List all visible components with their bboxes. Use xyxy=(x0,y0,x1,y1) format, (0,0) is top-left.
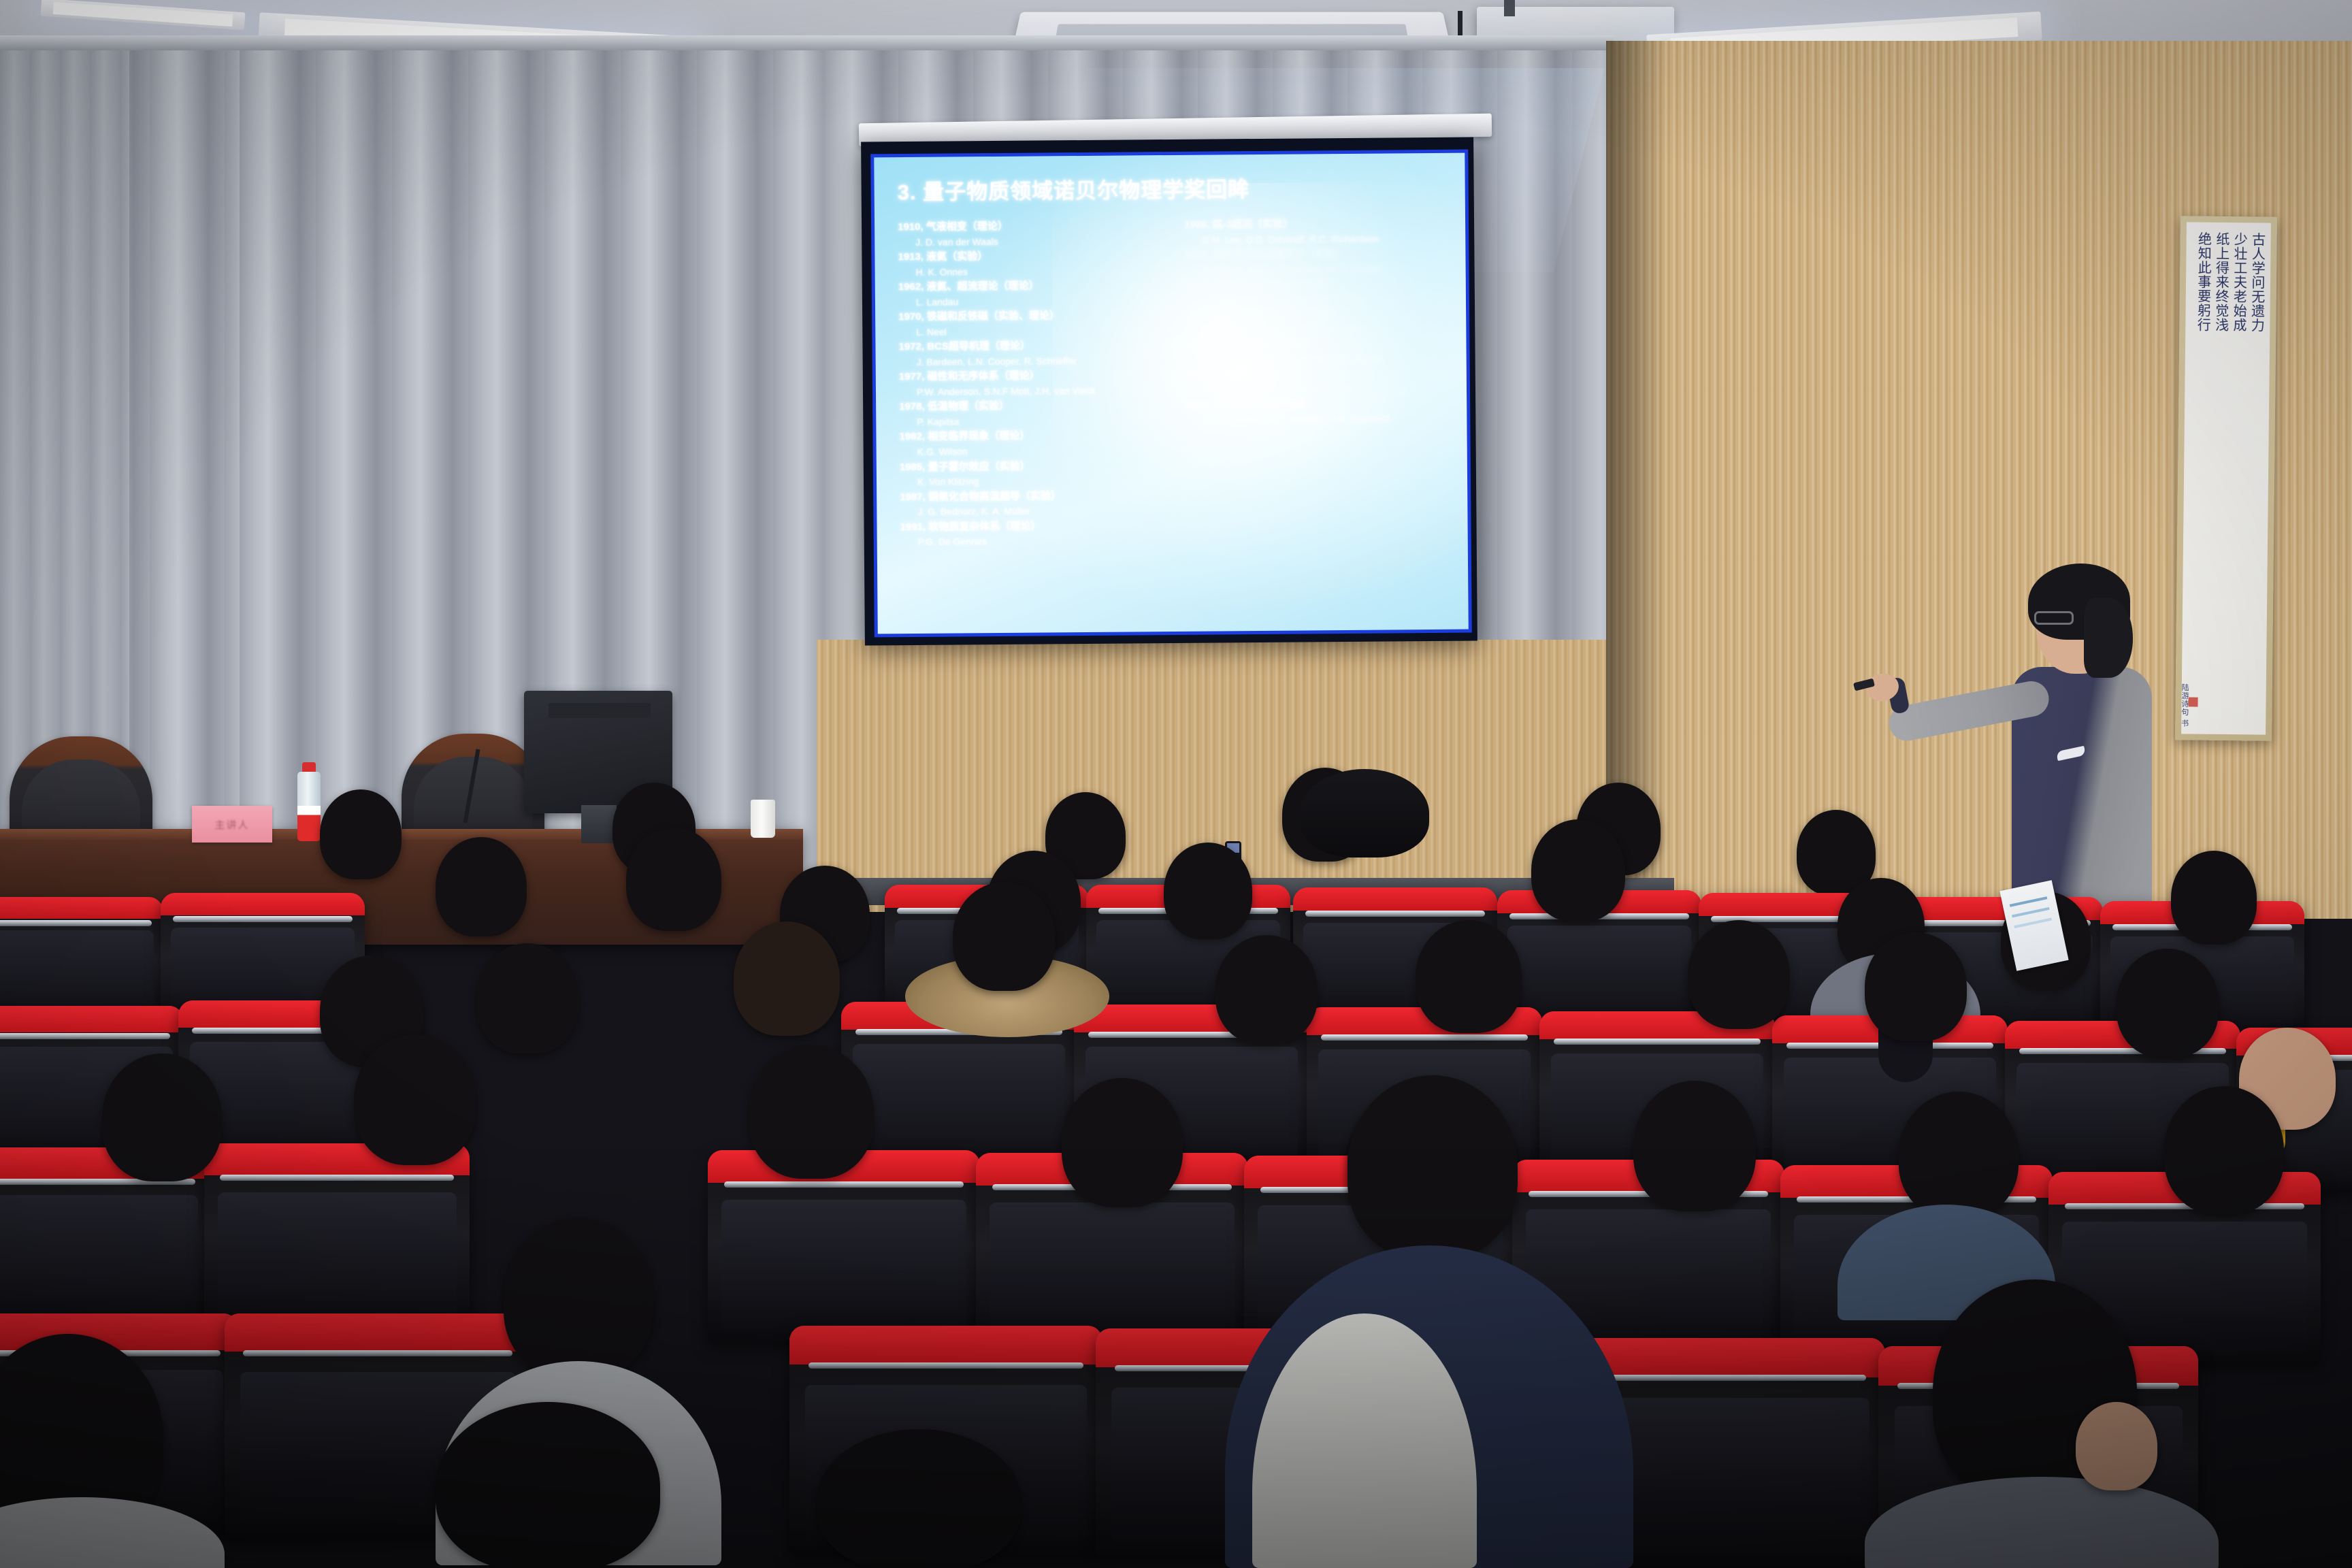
slide-entry-names: D.M. Lee, D.D. Osheroff, R.C. Richardson xyxy=(1184,231,1454,247)
slide-entry-names: R.B. Laughlin, H.L. Störmer, D.C. Tsui xyxy=(1185,291,1455,308)
slide-entry-names: K.G. Wilson xyxy=(900,443,1170,459)
slide-entry-names: A.A. Abrikosov, V.L. Ginzburg, A.J. Legg… xyxy=(1186,351,1456,367)
auditorium-seat xyxy=(708,1150,980,1342)
audience-head xyxy=(1899,1092,2019,1218)
slide-entry-year: 1982, 相变临界现象（理论） xyxy=(899,427,1169,445)
audience-head xyxy=(1215,935,1318,1044)
slide-entry-year: 1913, 液氦（实验） xyxy=(898,248,1168,265)
curtain-rod xyxy=(0,35,1613,50)
slide-entry-year: 2003, 超导超流理论（理论） xyxy=(1185,336,1455,353)
slide-entry-names: J. G. Bednorz, K. A. Müller xyxy=(900,503,1170,519)
name-card: 主讲人 xyxy=(192,806,272,843)
audience-head xyxy=(476,943,578,1053)
projector-mount xyxy=(1504,0,1515,16)
projection-screen: 3. 量子物质领域诺贝尔物理学奖回眸 1910, 气液相变（理论） J. D. … xyxy=(861,137,1477,645)
slide-entry-year: 1978, 低温物理（实验） xyxy=(899,397,1169,415)
audience-head xyxy=(436,837,527,936)
slide-column-right: 1996, 氦-3超流（实验） D.M. Lee, D.D. Osheroff,… xyxy=(1184,216,1458,623)
audience-head xyxy=(436,1402,660,1568)
audience-head xyxy=(817,1429,1021,1568)
slide-entry-names: L. Neel xyxy=(898,323,1169,340)
calligraphy-line: 少壮工夫老始成 xyxy=(2227,232,2247,728)
slide-entry-year: 1910, 气液相变（理论） xyxy=(898,218,1168,235)
slide-title: 3. 量子物质领域诺贝尔物理学奖回眸 xyxy=(897,172,1249,206)
slide-entry-names: P.W. Anderson, S.N.F Mott, J.H. van Vlec… xyxy=(899,383,1169,399)
slide-entry-year: 2001, 玻色-爱因斯坦凝聚（实验） xyxy=(1185,306,1455,323)
calligraphy-line: 古人学问无遗力 xyxy=(2245,232,2266,728)
eyeglasses-icon xyxy=(2034,611,2074,625)
brand-logo-icon xyxy=(2056,746,2086,761)
slide-entry-year: 2016, 拓扑相变与拓扑物态 xyxy=(1186,395,1456,413)
audience-head xyxy=(734,921,840,1036)
audience-head xyxy=(354,1034,476,1165)
audience-head xyxy=(2171,851,2257,945)
slide-entry-year: 1977, 磁性和无序体系（理论） xyxy=(899,367,1169,385)
slide-border: 3. 量子物质领域诺贝尔物理学奖回眸 1910, 气液相变（理论） J. D. … xyxy=(870,150,1472,638)
slide-entry-names: D. J. Thouless, F.D. Haldane, J.M. Koste… xyxy=(1186,411,1456,427)
slide-entry-year: 1987, 铜氧化合物高温超导（实验） xyxy=(900,488,1170,506)
audience-head xyxy=(1164,843,1252,939)
water-bottle xyxy=(297,762,321,843)
slide-entry-names: J. D. van der Waals xyxy=(898,233,1168,250)
slide-entry-names: P. Kapitsa xyxy=(899,413,1169,429)
audience-head xyxy=(1531,819,1625,921)
lecture-hall-photo: 3. 量子物质领域诺贝尔物理学奖回眸 1910, 气液相变（理论） J. D. … xyxy=(0,0,2352,1568)
slide-entry-names: K. Von Klitzing xyxy=(900,473,1170,489)
audience-head xyxy=(504,1218,653,1379)
audience-head xyxy=(102,1053,222,1181)
slide-entry-names: S. Chu, C. Cohen-Tannoudji, W. D. Philli… xyxy=(1185,261,1455,278)
audience-head xyxy=(1633,1081,1756,1211)
presentation-slide: 3. 量子物质领域诺贝尔物理学奖回眸 1910, 气液相变（理论） J. D. … xyxy=(874,153,1468,634)
slide-entry-year: 1970, 铁磁和反铁磁（实验、理论） xyxy=(898,308,1169,325)
slide-entry-year: 1991, 软物质复杂体系（理论） xyxy=(900,518,1170,536)
slide-entry-names: J. Bardeen, L.N. Cooper, R. Schrieffer xyxy=(899,353,1169,370)
slide-entry-year: 1962, 液氦、超流理论（理论） xyxy=(898,278,1169,295)
audience-head xyxy=(1688,920,1790,1029)
audience-head xyxy=(2076,1402,2157,1490)
name-card-text: 主讲人 xyxy=(214,817,249,832)
audience-head xyxy=(2117,949,2219,1058)
audience-head xyxy=(1062,1078,1183,1207)
slide-entry-year: 1998, 分数量子霍尔效应（实验） xyxy=(1185,276,1455,293)
slide-entry-names: Andre Geim, Konstantin Novoselov xyxy=(1186,381,1456,397)
slide-entry-names: H. K. Onnes xyxy=(898,263,1169,280)
slide-entry-year: 2010, 石墨烯（实验） xyxy=(1186,365,1456,383)
audience-head xyxy=(953,882,1055,991)
audience-head xyxy=(320,789,402,879)
presenter-hair-back xyxy=(2084,598,2133,678)
audience-head xyxy=(626,828,721,931)
slide-entry-year: 1996, 氦-3超流（实验） xyxy=(1184,216,1454,233)
audience-head xyxy=(1865,932,1967,1041)
audience-head xyxy=(749,1045,874,1179)
presenter xyxy=(1865,558,2219,912)
audience-head xyxy=(1416,920,1522,1033)
audience-head xyxy=(2164,1086,2284,1214)
auditorium-seat xyxy=(204,1143,470,1331)
baseball-cap xyxy=(1300,769,1429,857)
slide-entry-names: L. Landau xyxy=(898,293,1169,310)
slide-entry-names: P.G. De Gennes xyxy=(900,533,1171,549)
paper-cup xyxy=(751,800,775,838)
slide-column-left: 1910, 气液相变（理论） J. D. van der Waals 1913,… xyxy=(898,218,1171,625)
slide-entry-year: 1997, 激光冷却与囚禁原子（实验） xyxy=(1184,246,1454,263)
slide-entry-year: 1972, BCS超导机理（理论） xyxy=(898,338,1169,355)
slide-entry-year: 1985, 量子霍尔效应（实验） xyxy=(900,457,1170,475)
audience-head xyxy=(1347,1075,1518,1259)
